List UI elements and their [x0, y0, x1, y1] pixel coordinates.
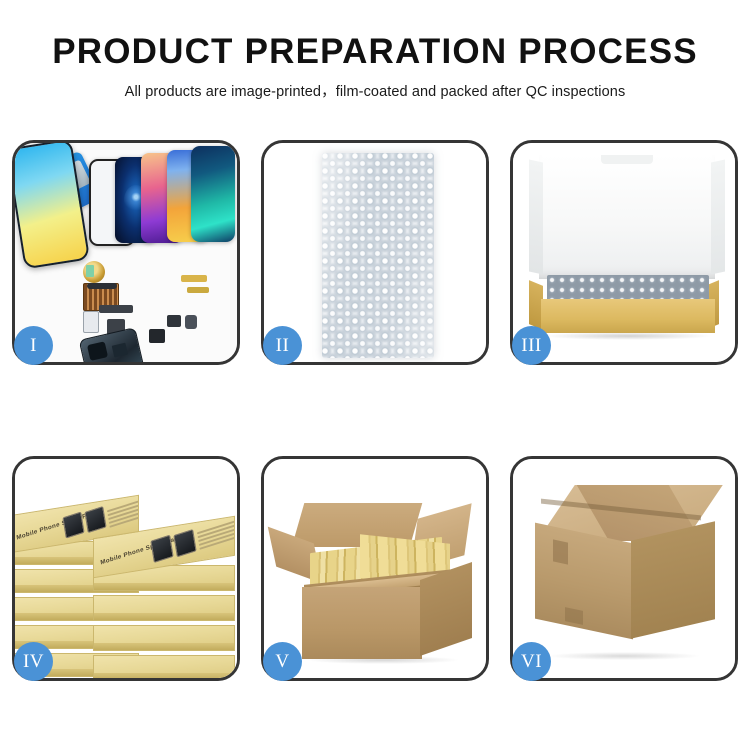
step-badge-4: IV	[14, 642, 53, 681]
carton-front-panel	[302, 587, 422, 659]
step-card-4[interactable]: Mobile Phone Spare Parts	[12, 456, 240, 681]
step-image-inner-box	[513, 143, 735, 362]
carton-shadow	[549, 652, 699, 660]
step-card-2[interactable]: II	[261, 140, 489, 365]
ribbon-cable-icon	[87, 283, 117, 289]
kraft-box	[93, 655, 235, 678]
step-image-sealed-carton	[513, 459, 735, 678]
step-badge-2: II	[263, 326, 302, 365]
plastic-sheen	[322, 153, 434, 358]
carton-front-panel	[535, 523, 633, 640]
kraft-box	[93, 595, 235, 621]
phone-artwork-icon	[84, 506, 106, 533]
teal-curved-screen-icon	[191, 146, 235, 242]
carton-side-panel	[420, 562, 472, 656]
step-card-6[interactable]: VI	[510, 456, 738, 681]
carton-handle-cutout	[553, 539, 568, 564]
step-card-1[interactable]: I	[12, 140, 240, 365]
small-component-icon	[185, 315, 197, 329]
spec-lines	[107, 496, 138, 527]
box-shadow	[543, 332, 713, 340]
page-subtitle: All products are image-printed，film-coat…	[0, 80, 750, 101]
carton-side-panel	[631, 521, 715, 638]
phone-artwork-icon	[150, 535, 173, 563]
phone-artwork-icon	[173, 529, 196, 557]
process-steps-grid: I II III	[12, 140, 738, 681]
step-card-3[interactable]: III	[510, 140, 738, 365]
step-badge-5: V	[263, 642, 302, 681]
spec-lines	[197, 518, 234, 549]
step-image-bubble-wrap	[264, 143, 486, 362]
small-component-icon	[167, 315, 181, 327]
camera-module-icon	[149, 329, 165, 343]
sim-tray-icon	[83, 311, 99, 333]
step-image-products	[15, 143, 237, 362]
lid-notch	[601, 155, 653, 164]
step-badge-3: III	[512, 326, 551, 365]
white-box-lid-icon	[539, 155, 715, 279]
page-title: PRODUCT PREPARATION PROCESS	[0, 34, 750, 71]
step-badge-6: VI	[512, 642, 551, 681]
step-image-boxed-stack: Mobile Phone Spare Parts	[15, 459, 237, 678]
spare-parts-group	[83, 261, 237, 361]
phone-artwork-icon	[62, 512, 84, 539]
flex-cable-icon	[181, 275, 207, 282]
flex-cable-icon	[99, 305, 133, 313]
flex-cable-icon	[187, 287, 209, 293]
step-badge-1: I	[14, 326, 53, 365]
page-header: PRODUCT PREPARATION PROCESS All products…	[0, 0, 750, 101]
kraft-box-front-panel	[541, 299, 715, 333]
step-card-5[interactable]: V	[261, 456, 489, 681]
kraft-box	[93, 625, 235, 651]
bubble-wrap-icon	[322, 153, 434, 358]
step-image-carton-loading	[264, 459, 486, 678]
kraft-box-stack: Mobile Phone Spare Parts	[15, 467, 237, 678]
